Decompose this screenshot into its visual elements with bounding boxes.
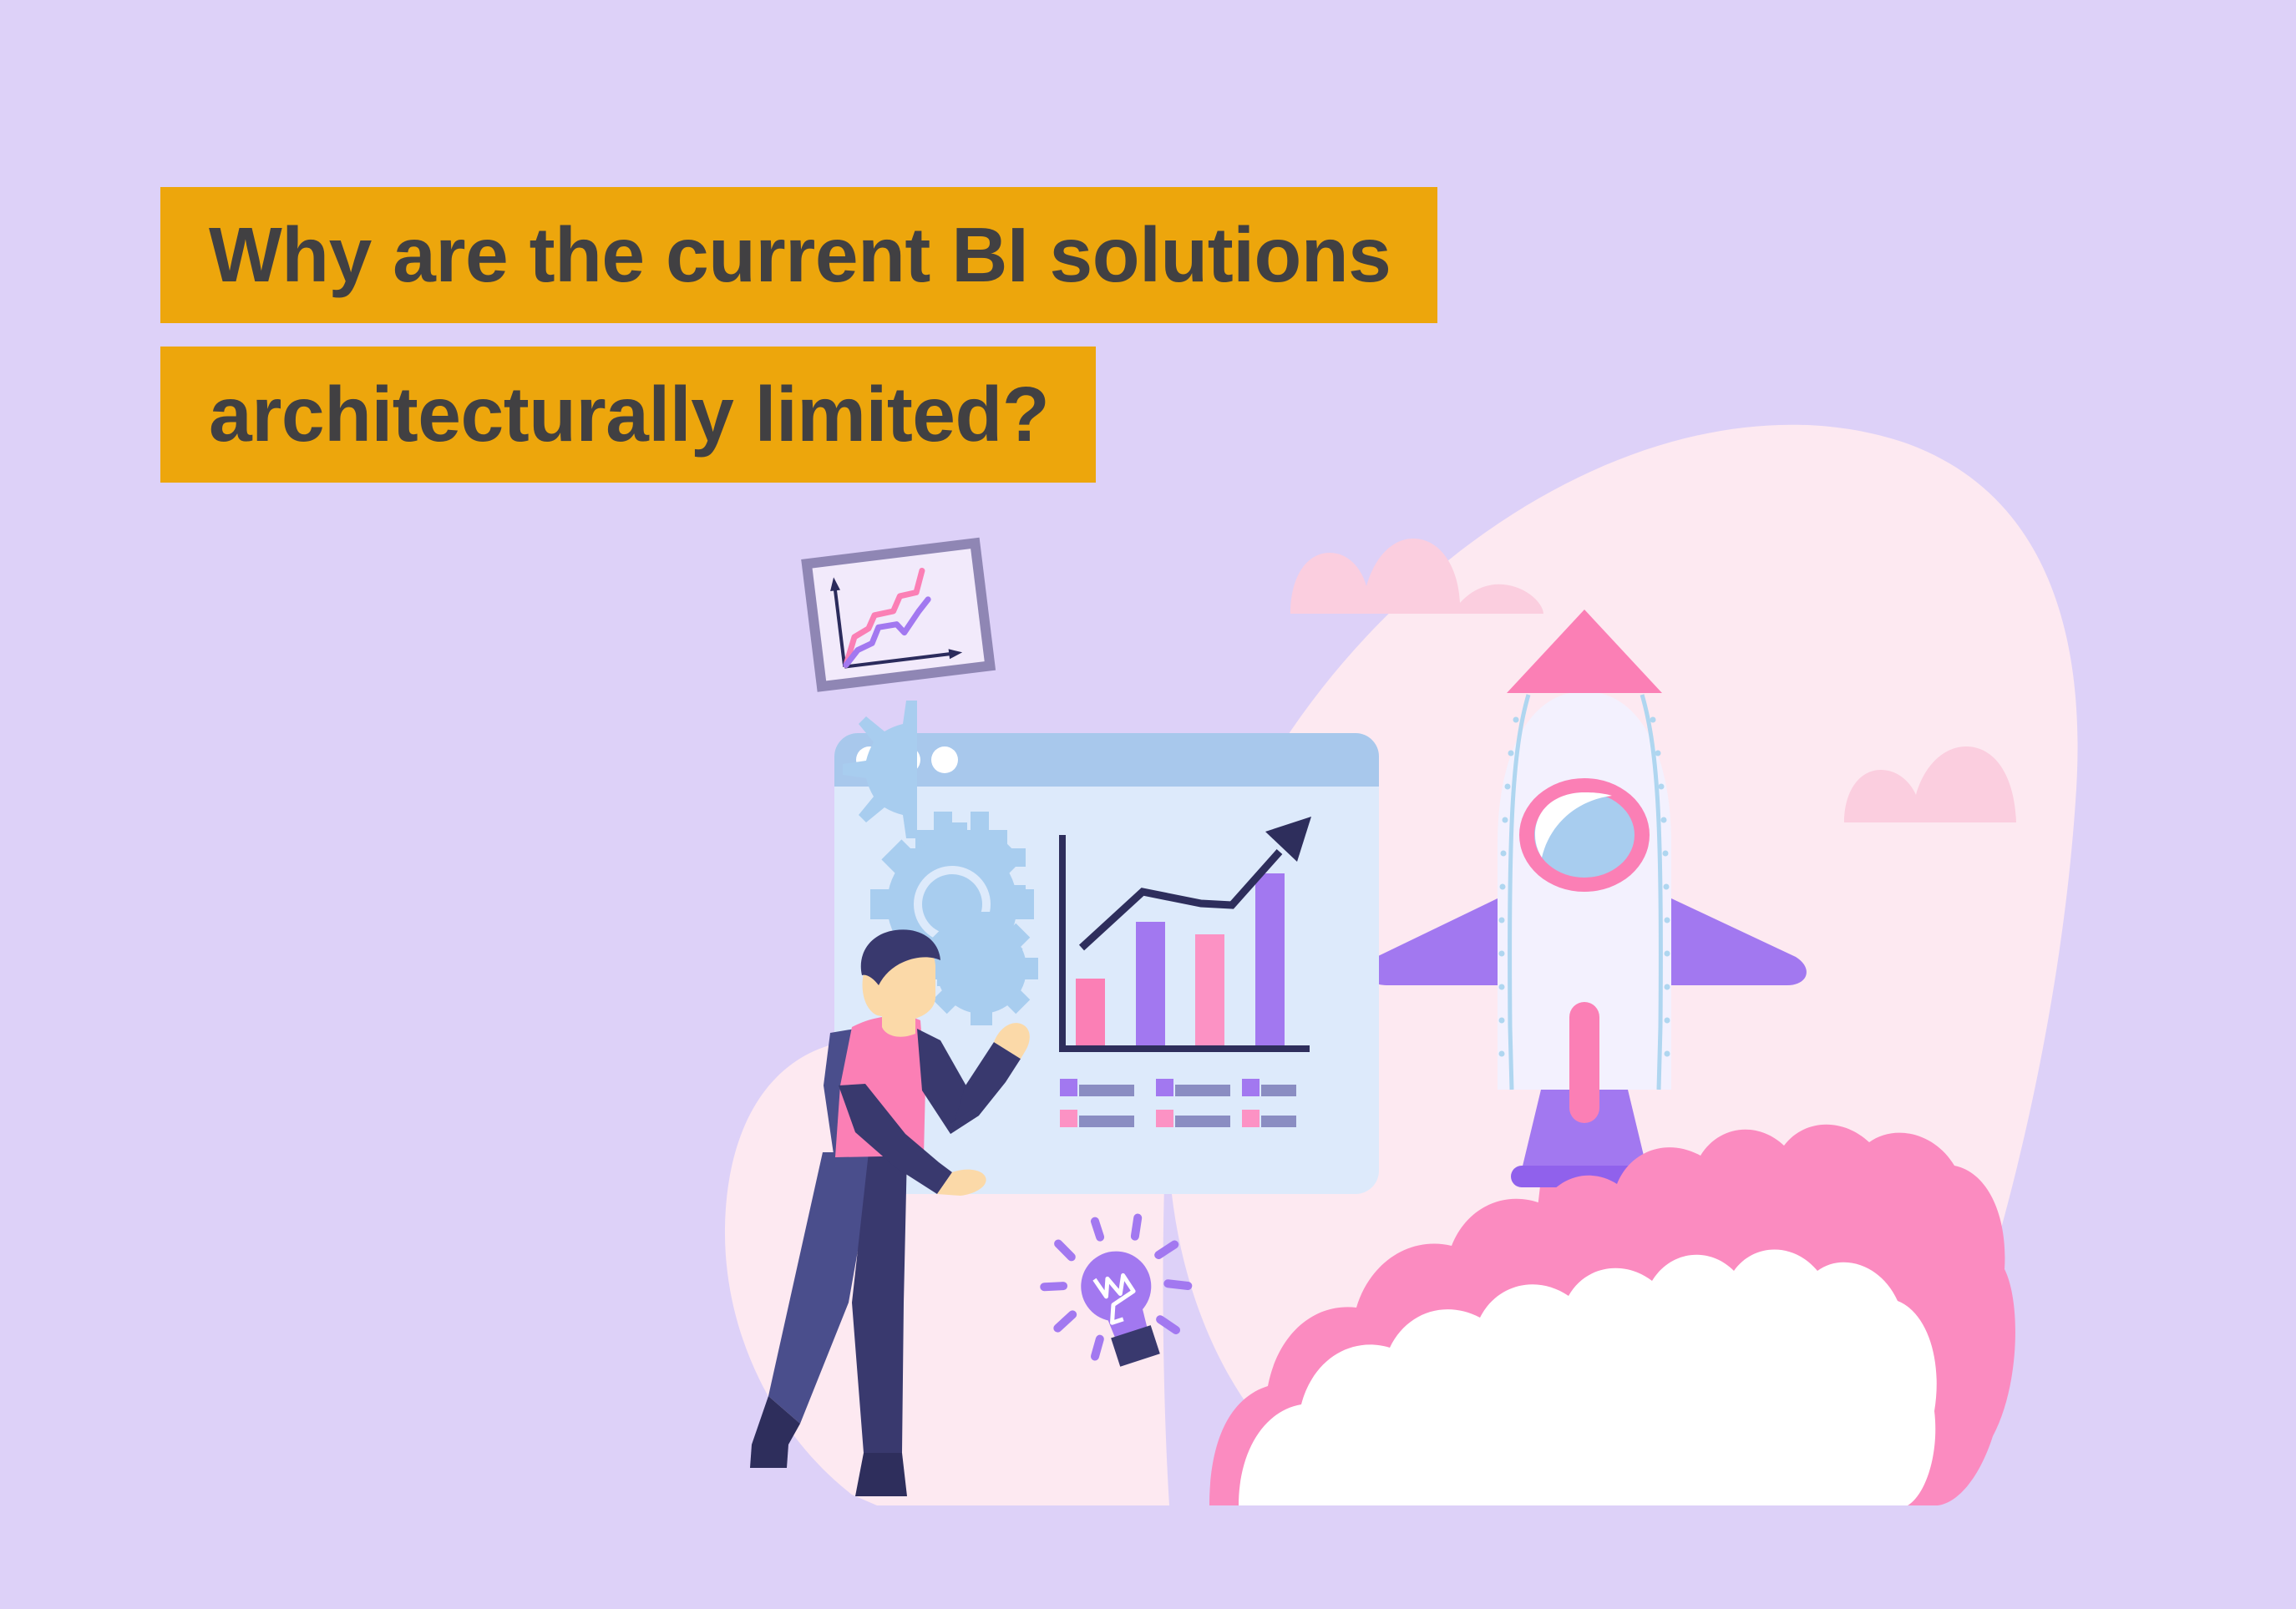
headline-line-2: architecturally limited? xyxy=(160,347,1096,483)
person-shoe-back-sole xyxy=(750,1445,788,1468)
mini-line-chart-frame xyxy=(801,538,996,692)
gear-small-icon xyxy=(925,912,1038,1025)
illustration-canvas: Why are the current BI solutions archite… xyxy=(0,0,2296,1609)
bar-chart-x-axis xyxy=(1059,1045,1310,1052)
window-dot-3[interactable] xyxy=(931,746,958,773)
rocket-center-fin xyxy=(1569,1002,1599,1123)
bar-3 xyxy=(1195,934,1224,1045)
bar-4 xyxy=(1255,873,1285,1045)
bar-2 xyxy=(1136,922,1165,1045)
headline-line-1: Why are the current BI solutions xyxy=(160,187,1437,323)
person-shoe-front xyxy=(855,1453,907,1496)
bar-chart-y-axis xyxy=(1059,835,1066,1052)
bar-1 xyxy=(1076,979,1105,1045)
